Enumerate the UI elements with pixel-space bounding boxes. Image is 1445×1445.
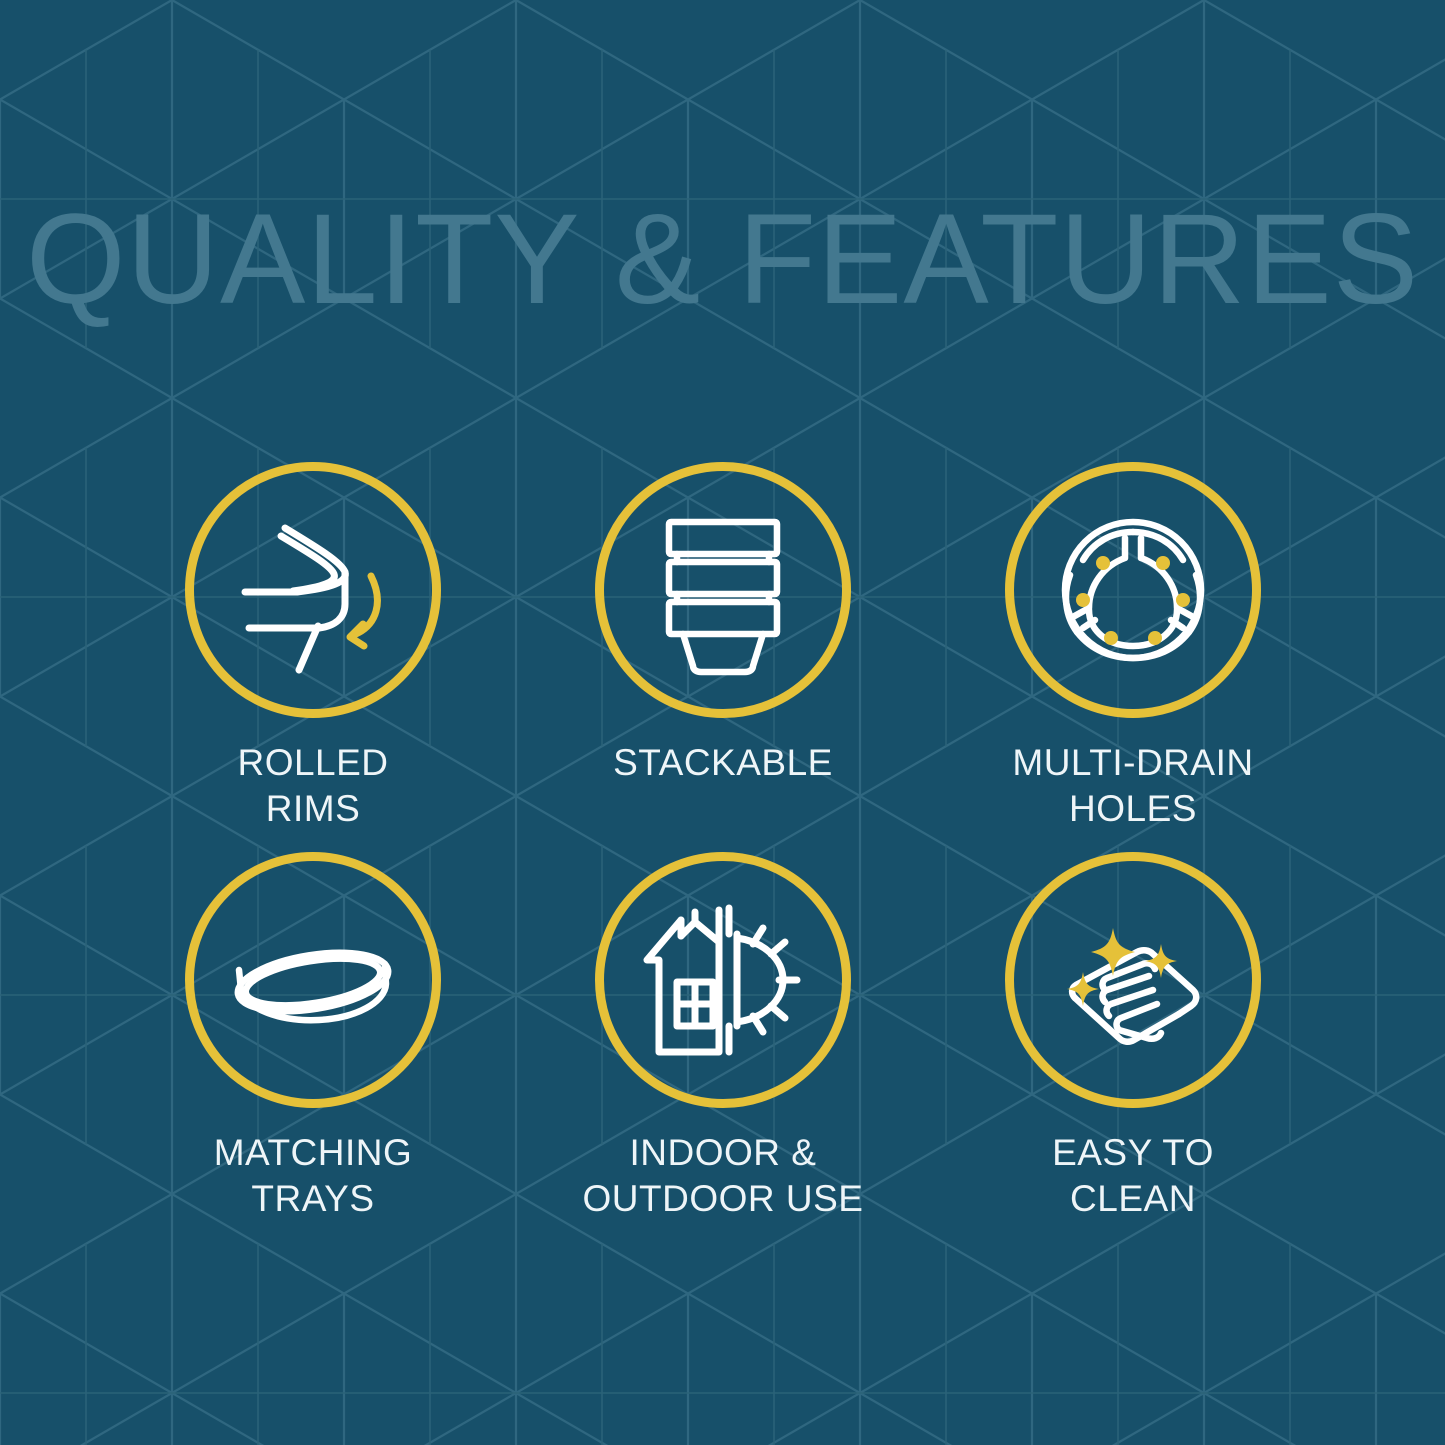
feature-label: MULTI-DRAIN HOLES [1012, 740, 1253, 832]
drain-holes-icon [1043, 500, 1223, 680]
feature-badge [595, 852, 851, 1108]
feature-badge [1005, 852, 1261, 1108]
feature-label: INDOOR & OUTDOOR USE [583, 1130, 864, 1222]
feature-label: MATCHING TRAYS [214, 1130, 413, 1222]
feature-item-multi-drain-holes[interactable]: MULTI-DRAIN HOLES [928, 462, 1338, 852]
infographic-canvas: QUALITY & FEATURES [0, 0, 1445, 1445]
rolled-rim-icon [223, 500, 403, 680]
page-title: QUALITY & FEATURES [0, 196, 1445, 324]
wiping-hand-sparkle-icon [1043, 890, 1223, 1070]
feature-item-easy-to-clean[interactable]: EASY TO CLEAN [928, 852, 1338, 1242]
feature-badge [185, 852, 441, 1108]
feature-item-indoor-outdoor[interactable]: INDOOR & OUTDOOR USE [518, 852, 928, 1242]
stacked-pots-icon [633, 500, 813, 680]
feature-item-stackable[interactable]: STACKABLE [518, 462, 928, 852]
feature-label: STACKABLE [613, 740, 833, 786]
oval-tray-icon [223, 890, 403, 1070]
feature-badge [185, 462, 441, 718]
feature-item-matching-trays[interactable]: MATCHING TRAYS [108, 852, 518, 1242]
feature-label: ROLLED RIMS [237, 740, 388, 832]
feature-item-rolled-rims[interactable]: ROLLED RIMS [108, 462, 518, 852]
feature-badge [1005, 462, 1261, 718]
feature-label: EASY TO CLEAN [1052, 1130, 1214, 1222]
sparkle-icons [1067, 928, 1177, 1006]
house-sun-icon [633, 890, 813, 1070]
feature-grid: ROLLED RIMS [108, 462, 1338, 1242]
feature-badge [595, 462, 851, 718]
